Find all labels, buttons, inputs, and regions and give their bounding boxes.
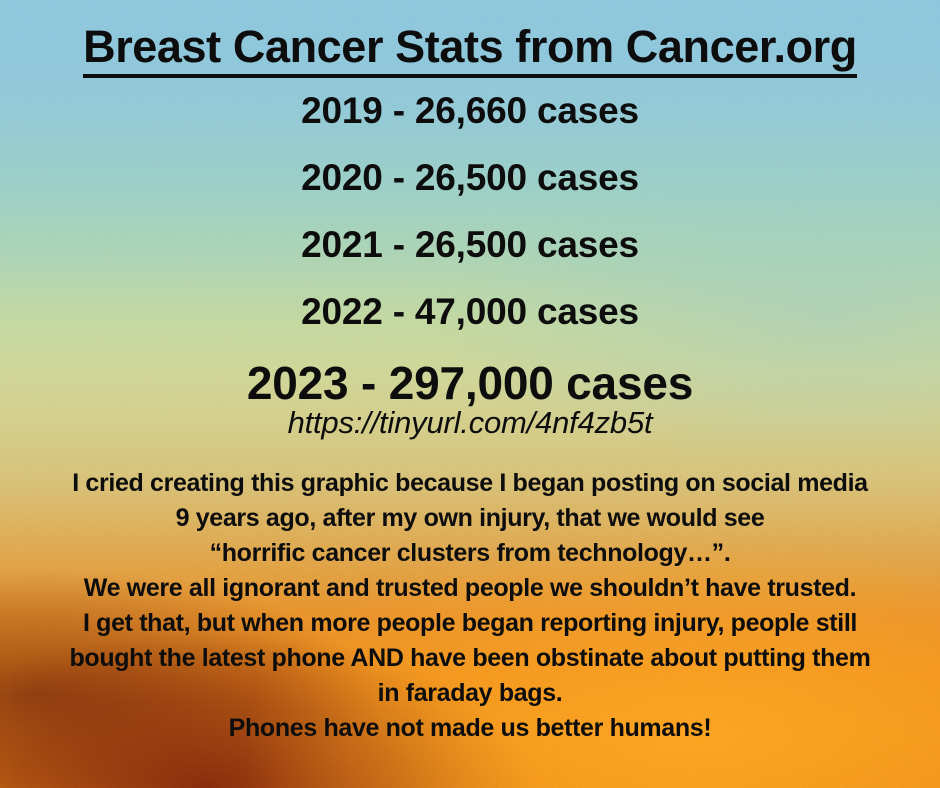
body-line: I get that, but when more people began r… [0,606,940,641]
body-line: Phones have not made us better humans! [0,711,940,746]
body-copy: I cried creating this graphic because I … [0,466,940,746]
stat-row-2020: 2020 - 26,500 cases [0,159,940,226]
body-line: in faraday bags. [0,676,940,711]
source-url-link[interactable]: https://tinyurl.com/4nf4zb5t [0,405,940,441]
stat-row-2022: 2022 - 47,000 cases [0,293,940,360]
stats-list: 2019 - 26,660 cases 2020 - 26,500 cases … [0,92,940,422]
stat-row-2019: 2019 - 26,660 cases [0,92,940,159]
body-line: We were all ignorant and trusted people … [0,571,940,606]
poster-content: Breast Cancer Stats from Cancer.org 2019… [0,0,940,788]
body-line: I cried creating this graphic because I … [0,466,940,501]
poster-canvas: Breast Cancer Stats from Cancer.org 2019… [0,0,940,788]
page-title: Breast Cancer Stats from Cancer.org [0,23,940,78]
page-title-text: Breast Cancer Stats from Cancer.org [83,23,857,78]
body-line: 9 years ago, after my own injury, that w… [0,501,940,536]
body-line: “horrific cancer clusters from technolog… [0,536,940,571]
stat-row-2021: 2021 - 26,500 cases [0,226,940,293]
body-line: bought the latest phone AND have been ob… [0,641,940,676]
